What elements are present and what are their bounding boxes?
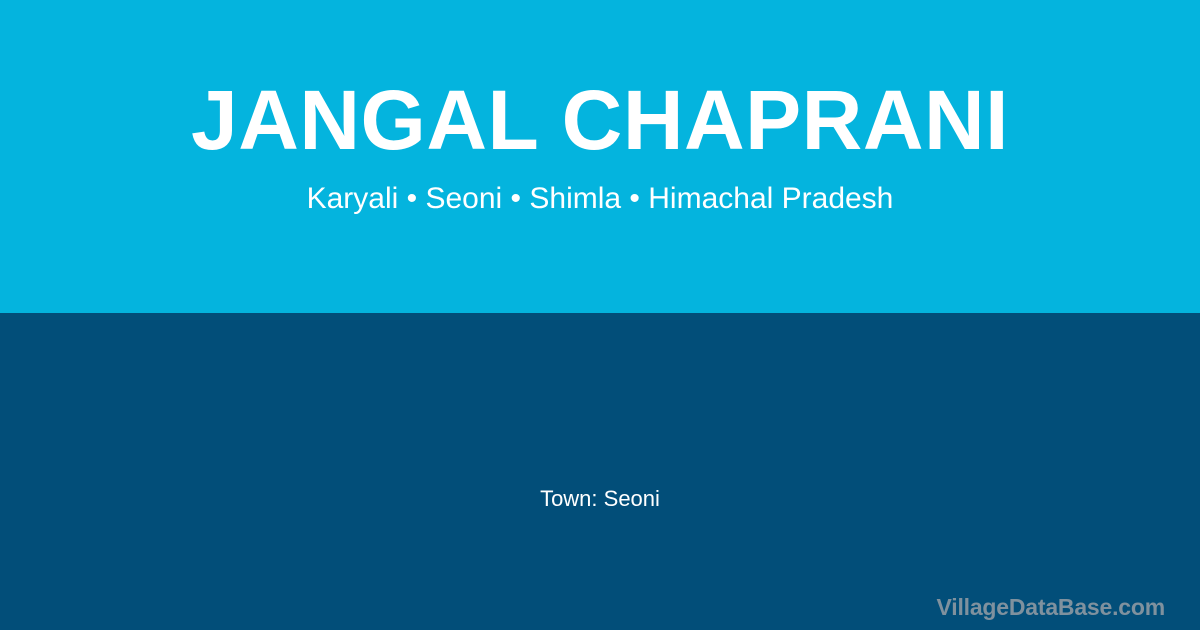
hero-band: JANGAL CHAPRANI Karyali • Seoni • Shimla… [0,0,1200,313]
detail-band: Town: Seoni [0,313,1200,630]
detail-center-group: Town: Seoni [0,486,1200,512]
page-title: JANGAL CHAPRANI [191,78,1009,162]
town-info-line: Town: Seoni [540,486,660,512]
village-info-card: JANGAL CHAPRANI Karyali • Seoni • Shimla… [0,0,1200,630]
site-watermark: VillageDataBase.com [937,594,1165,622]
breadcrumb: Karyali • Seoni • Shimla • Himachal Prad… [307,182,894,217]
